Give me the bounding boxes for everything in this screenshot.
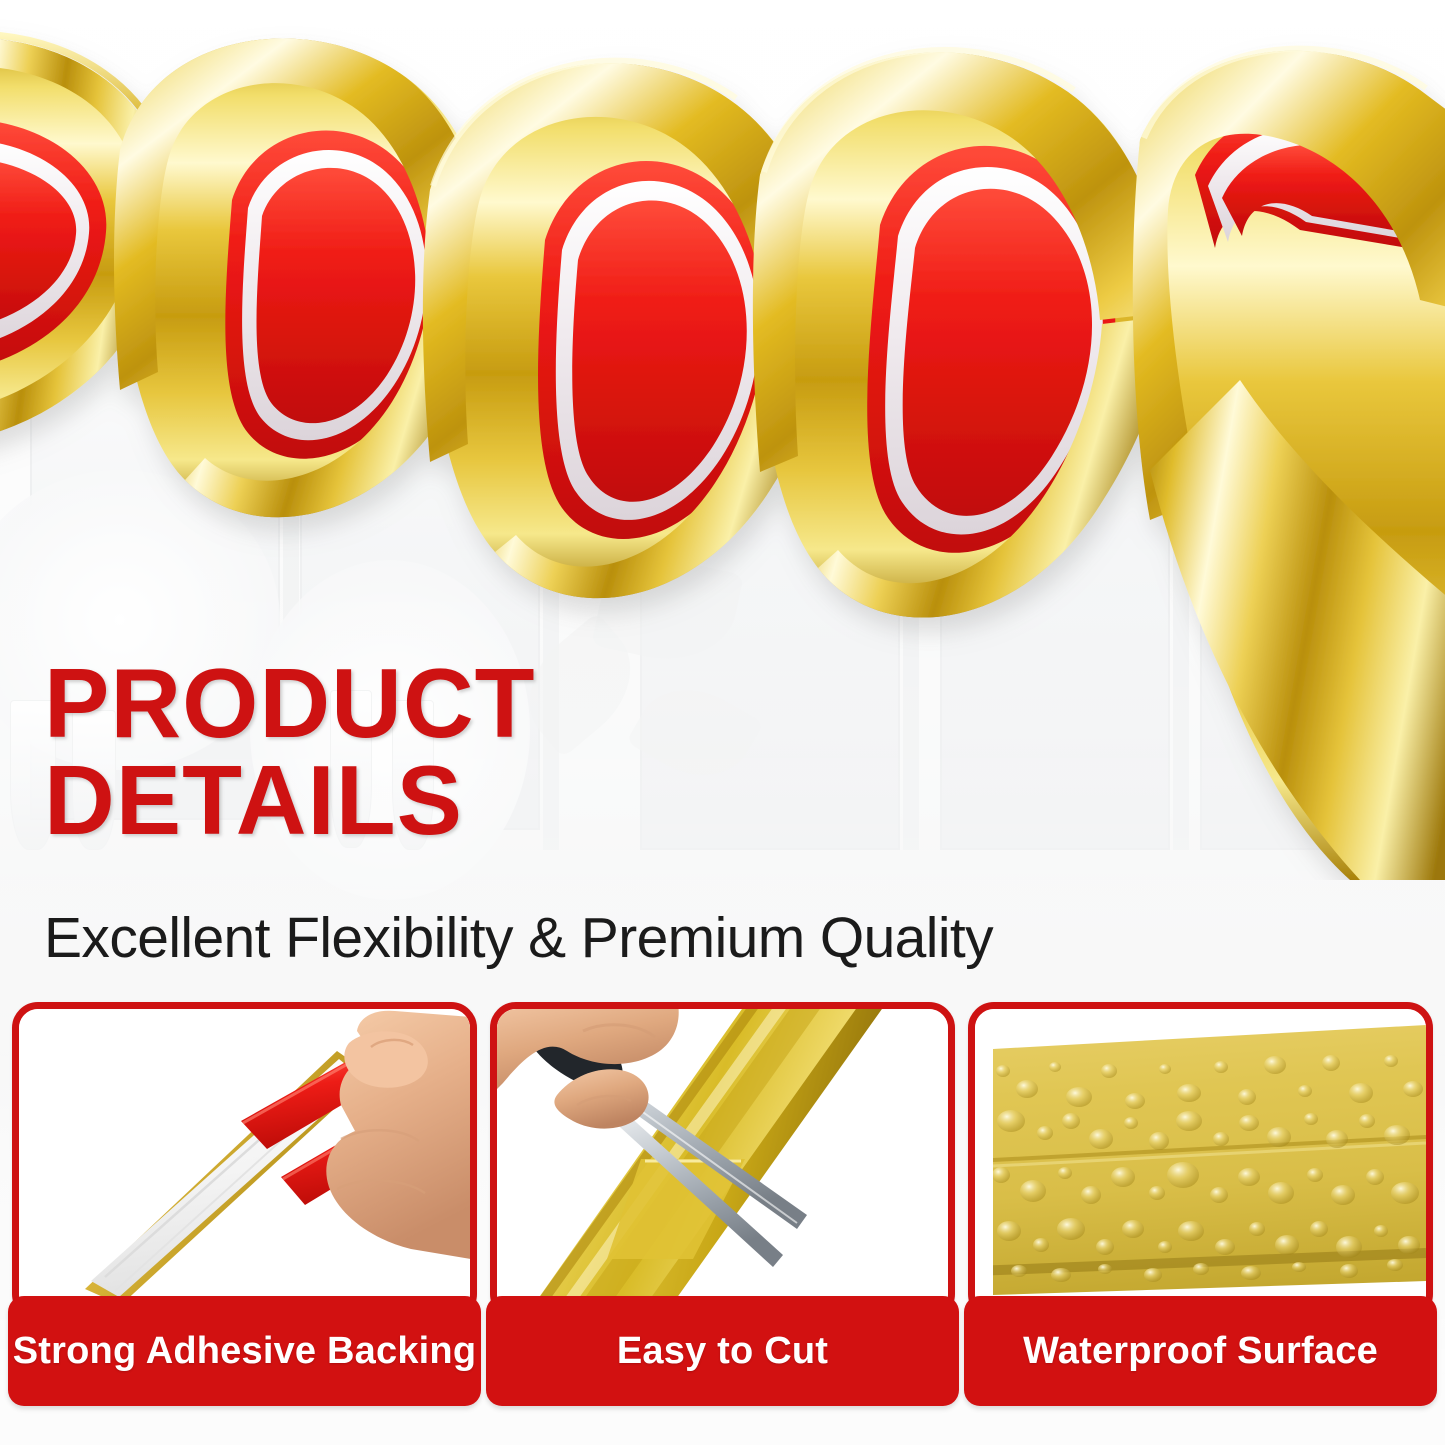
adhesive-backing-photo	[19, 1009, 470, 1313]
product-details-infographic: PRODUCT DETAILS Excellent Flexibility & …	[0, 0, 1445, 1445]
feature-caption-text: Waterproof Surface	[1023, 1330, 1378, 1373]
feature-panel-adhesive: Strong Adhesive Backing	[8, 1000, 481, 1420]
feature-caption-text: Easy to Cut	[617, 1330, 828, 1373]
feature-caption-cut: Easy to Cut	[486, 1296, 959, 1406]
feature-image-frame	[490, 1002, 955, 1320]
page-title-line-1: PRODUCT	[44, 655, 944, 752]
feature-image-frame	[968, 1002, 1433, 1320]
feature-panel-list: Strong Adhesive Backing	[0, 1000, 1445, 1445]
feature-panel-waterproof: Waterproof Surface	[964, 1000, 1437, 1420]
waterproof-surface-photo	[975, 1009, 1426, 1313]
feature-caption-text: Strong Adhesive Backing	[13, 1330, 477, 1373]
feature-panel-cut: Easy to Cut	[486, 1000, 959, 1420]
tape-coil-4	[753, 50, 1170, 618]
page-title: PRODUCT DETAILS	[44, 655, 944, 849]
feature-caption-waterproof: Waterproof Surface	[964, 1296, 1437, 1406]
feature-caption-adhesive: Strong Adhesive Backing	[8, 1296, 481, 1406]
page-subtitle: Excellent Flexibility & Premium Quality	[44, 905, 993, 971]
feature-image-frame	[12, 1002, 477, 1320]
easy-to-cut-photo	[497, 1009, 948, 1313]
page-title-line-2: DETAILS	[44, 752, 944, 849]
tape-coil-5	[1133, 49, 1445, 880]
